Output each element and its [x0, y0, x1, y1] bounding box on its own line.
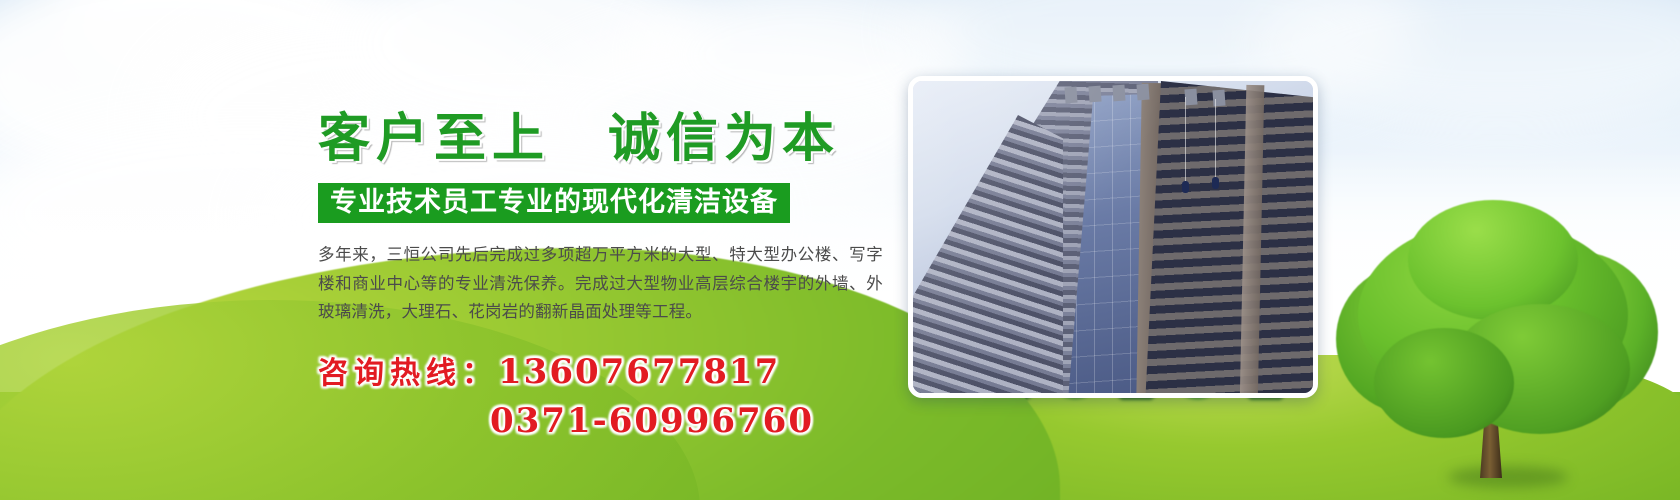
roof-notch: [1136, 84, 1149, 101]
sub-banner-label: 专业技术员工专业的现代化清洁设备: [318, 183, 790, 223]
rope-access-worker: [1182, 181, 1189, 193]
building-photo: [913, 81, 1313, 393]
tree-illustration: [1330, 178, 1660, 478]
roof-notch: [1064, 87, 1077, 104]
roof-notch: [1112, 85, 1125, 102]
hotline-mobile-number[interactable]: 13607677817: [498, 352, 780, 392]
roof-notch: [1184, 89, 1197, 106]
tree-canopy: [1374, 328, 1514, 438]
tree-canopy: [1408, 200, 1578, 320]
company-description: 多年来，三恒公司先后完成过多项超万平方米的大型、特大型办公楼、写字楼和商业中心等…: [318, 241, 883, 326]
tree-shadow: [1448, 466, 1568, 488]
hotline-landline-number[interactable]: 0371-60996760: [318, 397, 898, 445]
hotline-label: 咨询热线：: [318, 356, 498, 391]
rope-access-worker: [1212, 177, 1219, 189]
page-title: 客户至上 诚信为本: [318, 96, 898, 171]
tower-right-facade: [1145, 81, 1313, 393]
work-rope: [1215, 99, 1216, 181]
building-photo-card[interactable]: [908, 76, 1318, 398]
work-rope: [1185, 97, 1186, 183]
hotline-block: 咨询热线：13607677817 0371-60996760: [318, 348, 898, 445]
banner-text-content: 客户至上 诚信为本 专业技术员工专业的现代化清洁设备 多年来，三恒公司先后完成过…: [318, 96, 898, 445]
roof-notch: [1088, 86, 1101, 103]
promo-banner: 客户至上 诚信为本 专业技术员工专业的现代化清洁设备 多年来，三恒公司先后完成过…: [0, 0, 1680, 500]
